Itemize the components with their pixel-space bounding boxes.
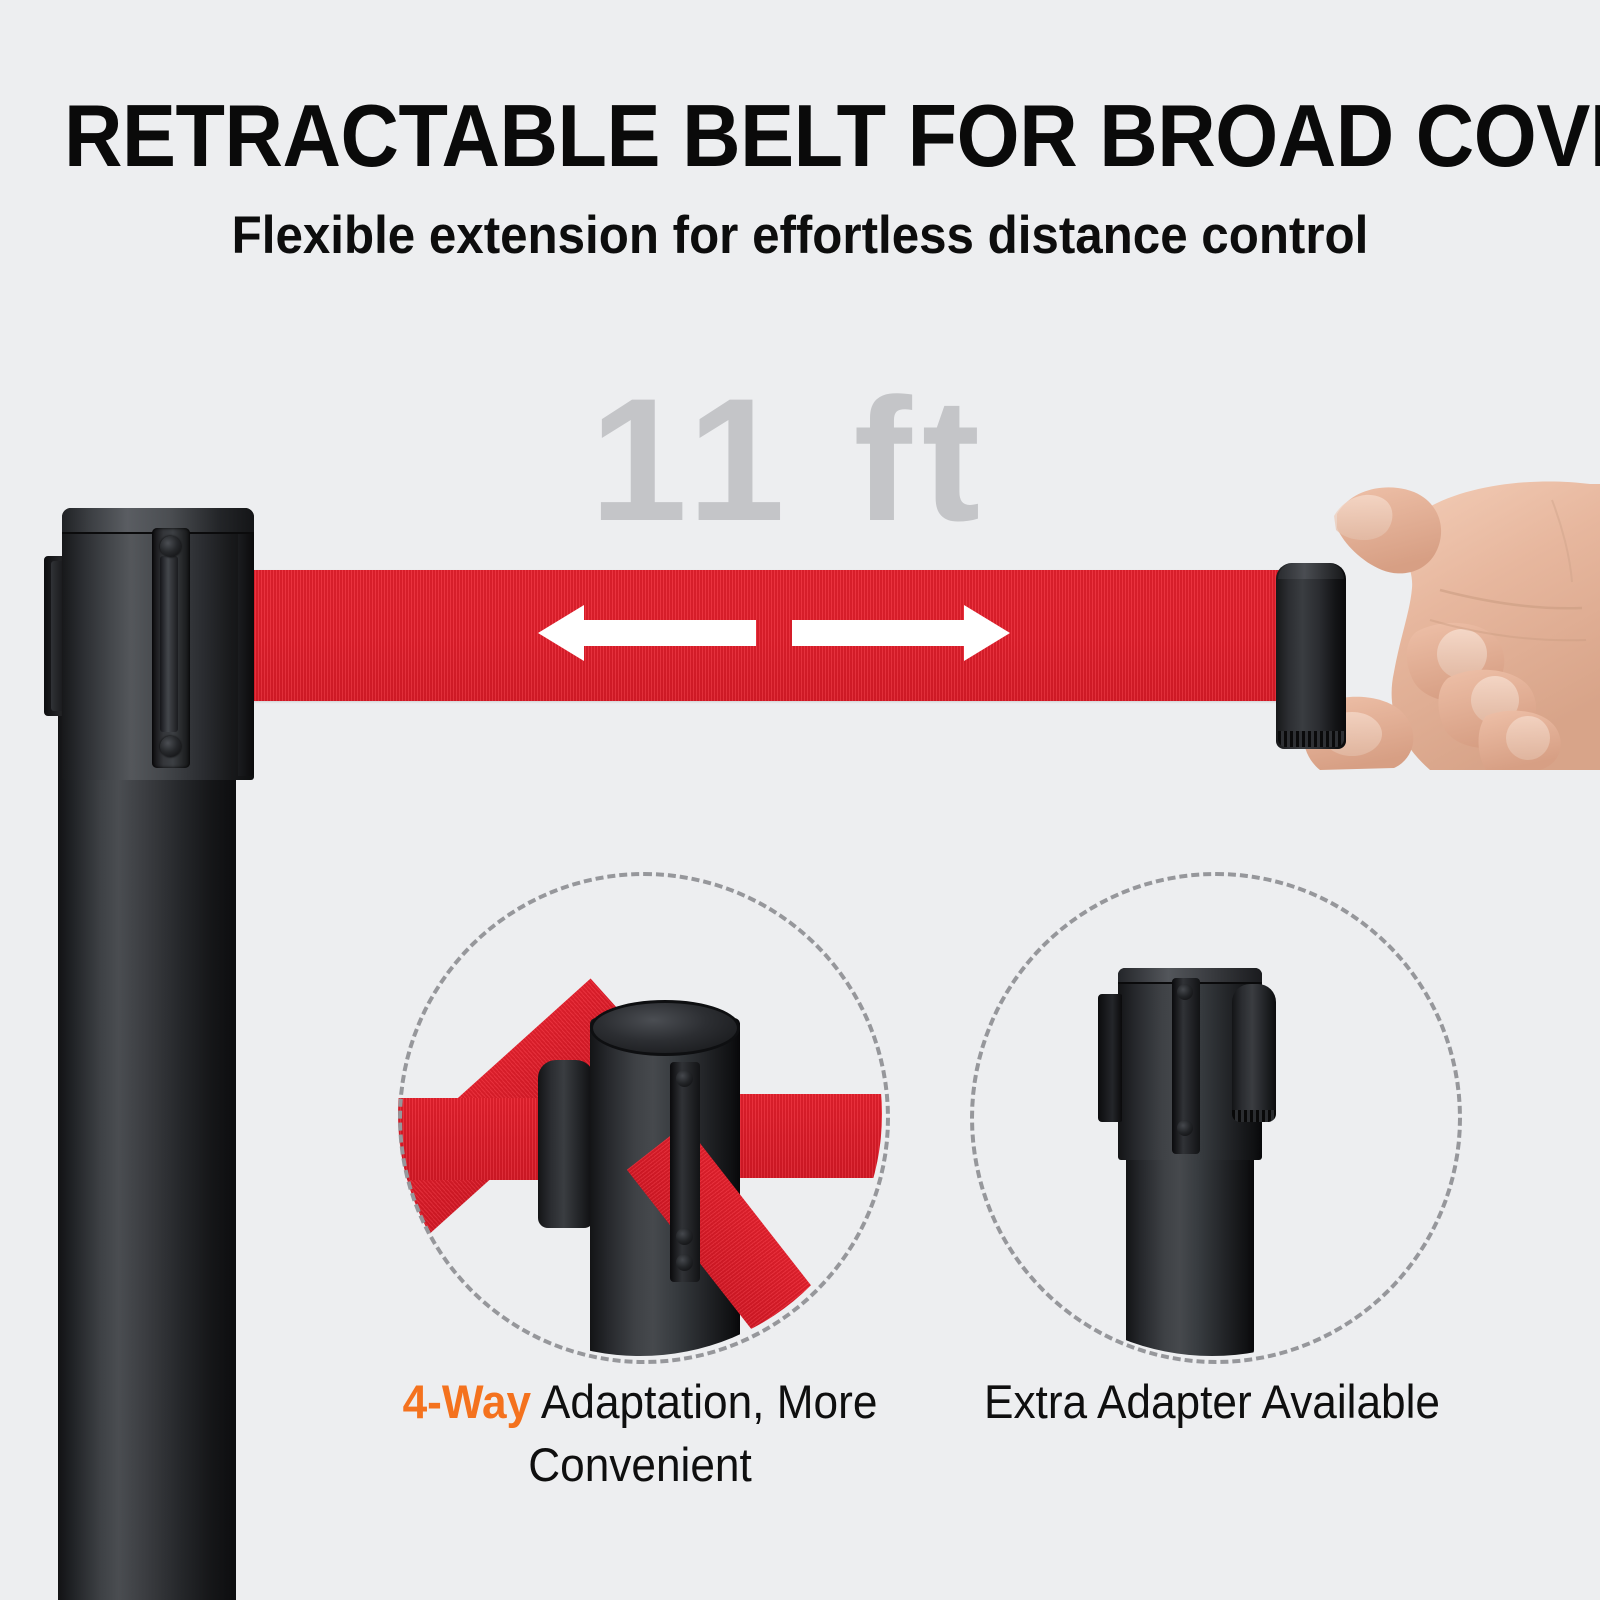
caption-four-way: 4-Way Adaptation, More Convenient: [377, 1370, 903, 1496]
inset-four-way-adaptation: [398, 872, 882, 1356]
inset-belt-guide: [670, 1062, 700, 1282]
inset-extra-adapter: [970, 872, 1454, 1356]
inset-right-dashed-ring: [970, 872, 1462, 1364]
caption-extra-adapter: Extra Adapter Available: [949, 1370, 1475, 1433]
page-subtitle: Flexible extension for effortless distan…: [56, 205, 1544, 267]
retractable-belt: [246, 570, 1286, 701]
screw-icon-bottom: [160, 736, 181, 757]
arrow-left-icon: [538, 605, 756, 661]
inset-screw-bottom: [676, 1254, 693, 1271]
post-head-right-edge: [238, 518, 254, 776]
inset-screw-top: [676, 1070, 693, 1087]
page-title: RETRACTABLE BELT FOR BROAD COVERAGE: [64, 88, 1536, 184]
inset-screw-mid: [676, 1228, 693, 1245]
belt-guide-slot: [160, 556, 178, 732]
stanchion-post-column: [58, 706, 236, 1600]
inset-post-top-cap: [590, 1000, 740, 1056]
caption-rest-four-way: Adaptation, More Convenient: [528, 1375, 877, 1491]
length-watermark: 11 ft: [480, 368, 1100, 553]
product-feature-card: RETRACTABLE BELT FOR BROAD COVERAGE Flex…: [0, 0, 1600, 1600]
screw-icon-top: [160, 536, 181, 557]
caption-highlight-four-way: 4-Way: [403, 1375, 531, 1428]
arrow-right-icon: [792, 605, 1010, 661]
belt-end-clip: [1276, 563, 1346, 749]
belt-end-clip-cap: [1278, 563, 1344, 579]
belt-end-clip-ribs: [1278, 731, 1344, 747]
